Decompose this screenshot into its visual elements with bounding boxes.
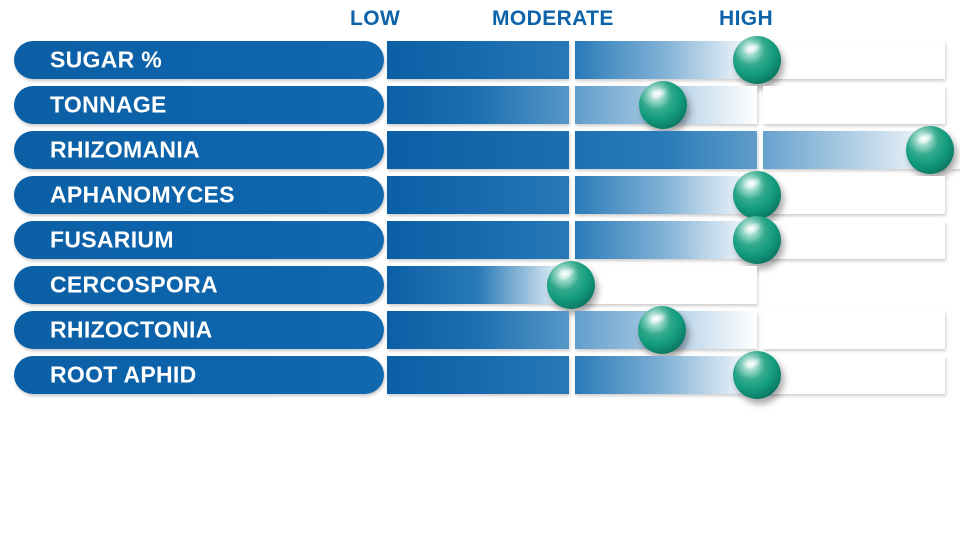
rating-segment (575, 41, 757, 79)
rating-segment (763, 221, 945, 259)
rating-segment (387, 131, 569, 169)
row-label-text: APHANOMYCES (50, 182, 235, 209)
row-label-pill: TONNAGE (14, 86, 384, 124)
column-header-low: LOW (350, 7, 400, 31)
rating-segment (387, 311, 569, 349)
rating-chart: LOW MODERATE HIGH SUGAR %TONNAGERHIZOMAN… (0, 0, 960, 540)
row-label-pill: APHANOMYCES (14, 176, 384, 214)
row-label-text: ROOT APHID (50, 362, 197, 389)
row-label-pill: ROOT APHID (14, 356, 384, 394)
row-label-text: RHIZOMANIA (50, 137, 200, 164)
row-label-text: RHIZOCTONIA (50, 317, 213, 344)
rating-marker-sphere[interactable] (733, 216, 781, 264)
rating-segment (763, 311, 945, 349)
row-label-pill: SUGAR % (14, 41, 384, 79)
rating-marker-sphere[interactable] (547, 261, 595, 309)
row-label-text: TONNAGE (50, 92, 167, 119)
row-label-pill: RHIZOCTONIA (14, 311, 384, 349)
rating-segment (575, 266, 757, 304)
rating-marker-sphere[interactable] (906, 126, 954, 174)
rating-segment (763, 356, 945, 394)
row-label-text: SUGAR % (50, 47, 162, 74)
rating-segment (387, 176, 569, 214)
row-label-text: CERCOSPORA (50, 272, 218, 299)
rating-marker-sphere[interactable] (733, 36, 781, 84)
rating-marker-sphere[interactable] (733, 351, 781, 399)
rating-segment (575, 221, 757, 259)
rating-segment (387, 41, 569, 79)
rating-segment (763, 176, 945, 214)
rating-marker-sphere[interactable] (639, 81, 687, 129)
row-label-pill: RHIZOMANIA (14, 131, 384, 169)
rating-segment (387, 356, 569, 394)
row-label-pill: FUSARIUM (14, 221, 384, 259)
row-label-text: FUSARIUM (50, 227, 174, 254)
column-header-moderate: MODERATE (492, 7, 614, 31)
rating-segment (763, 41, 945, 79)
rating-marker-sphere[interactable] (638, 306, 686, 354)
rating-segment (575, 176, 757, 214)
row-label-pill: CERCOSPORA (14, 266, 384, 304)
rating-segment (763, 86, 945, 124)
rating-segment (575, 356, 757, 394)
rating-segment (387, 266, 569, 304)
rating-segment (387, 221, 569, 259)
rating-segment (387, 86, 569, 124)
rating-marker-sphere[interactable] (733, 171, 781, 219)
column-header-high: HIGH (719, 7, 773, 31)
rating-segment (575, 131, 757, 169)
